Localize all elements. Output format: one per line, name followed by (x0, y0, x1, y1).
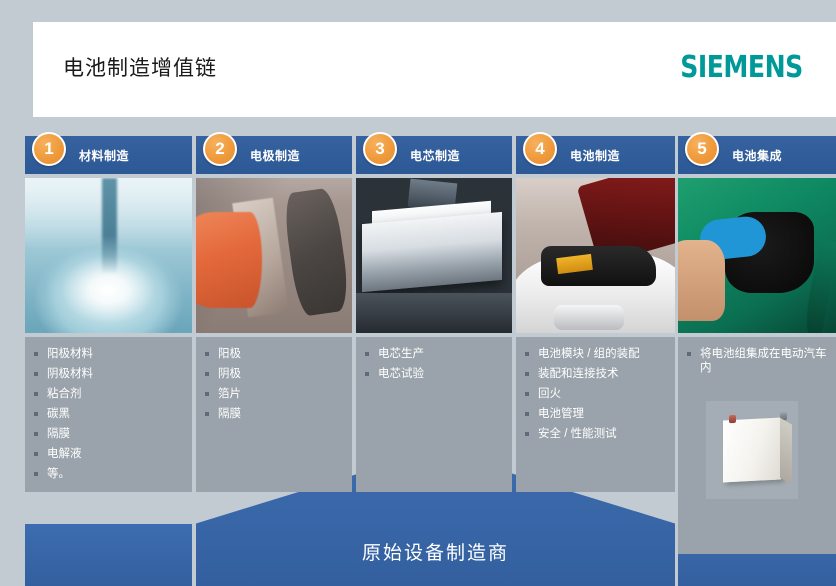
stage-bullets-5: 将电池组集成在电动汽车内 (686, 347, 828, 375)
stage-header-5: 5 电池集成 (678, 136, 836, 174)
siemens-logo: SIEMENS (680, 50, 803, 85)
list-item: 阴极材料 (33, 367, 184, 381)
list-item: 隔膜 (204, 407, 344, 421)
stage-number-badge-5: 5 (685, 132, 719, 166)
list-item: 将电池组集成在电动汽车内 (686, 347, 828, 375)
stage-number-badge-1: 1 (32, 132, 66, 166)
stage-column-1[interactable]: 1 材料制造 阳极材料 阴极材料 粘合剂 碳黑 隔膜 电解液 等。 (25, 136, 192, 586)
stage-body-4: 电池模块 / 组的装配 装配和连接技术 回火 电池管理 安全 / 性能测试 (516, 337, 675, 492)
stage-column-2[interactable]: 2 电极制造 阳极 阴极 箔片 隔膜 (196, 136, 352, 586)
list-item: 回火 (524, 387, 667, 401)
page-title: 电池制造增值链 (63, 52, 217, 82)
list-item: 电芯生产 (364, 347, 504, 361)
stage-header-4: 4 电池制造 (516, 136, 675, 174)
hand (678, 240, 725, 321)
stage-body-1: 阳极材料 阴极材料 粘合剂 碳黑 隔膜 电解液 等。 (25, 337, 192, 492)
list-item: 阳极 (204, 347, 344, 361)
battery-terminal-negative (780, 412, 787, 420)
stage-label-2: 电极制造 (250, 147, 300, 164)
stage-body-3: 电芯生产 电芯试验 (356, 337, 512, 492)
list-item: 阳极材料 (33, 347, 184, 361)
machine-block (362, 212, 502, 292)
stage-number-badge-4: 4 (523, 132, 557, 166)
list-item: 电解液 (33, 447, 184, 461)
copper-roll (196, 212, 262, 308)
copper-foil-roll-photo (196, 178, 352, 333)
battery-terminal-positive (729, 415, 736, 423)
stage-label-5: 电池集成 (732, 147, 782, 164)
stage-column-3[interactable]: 3 电芯制造 电芯生产 电芯试验 (356, 136, 512, 586)
stage-photo-3 (356, 178, 512, 333)
list-item: 电池管理 (524, 407, 667, 421)
dark-coating-roll (281, 187, 351, 317)
stage-number-badge-3: 3 (363, 132, 397, 166)
stage-number-badge-2: 2 (203, 132, 237, 166)
stage-header-2: 2 电极制造 (196, 136, 352, 174)
cell-assembly-machine-photo (356, 178, 512, 333)
headlamp (554, 305, 624, 330)
prismatic-battery-cell-image (706, 401, 798, 499)
stage-label-3: 电芯制造 (410, 147, 460, 164)
stage-header-3: 3 电芯制造 (356, 136, 512, 174)
stage-bullets-1: 阳极材料 阴极材料 粘合剂 碳黑 隔膜 电解液 等。 (33, 347, 184, 481)
stage-label-1: 材料制造 (79, 147, 129, 164)
header-band: 电池制造增值链 SIEMENS (33, 22, 836, 117)
stage-body-5: 将电池组集成在电动汽车内 (678, 337, 836, 554)
stage-column-4[interactable]: 4 电池制造 电池模块 / 组的装配 装配和连接技术 回火 电池管理 安全 / … (516, 136, 675, 586)
machine-base (356, 293, 512, 333)
stage-bullets-4: 电池模块 / 组的装配 装配和连接技术 回火 电池管理 安全 / 性能测试 (524, 347, 667, 441)
stage-photo-5 (678, 178, 836, 333)
value-chain-stages: 1 材料制造 阳极材料 阴极材料 粘合剂 碳黑 隔膜 电解液 等。 2 电极制造 (25, 136, 836, 586)
liquid-mixing-photo (25, 178, 192, 333)
list-item: 电池模块 / 组的装配 (524, 347, 667, 361)
list-item: 隔膜 (33, 427, 184, 441)
list-item: 电芯试验 (364, 367, 504, 381)
list-item: 碳黑 (33, 407, 184, 421)
list-item: 阴极 (204, 367, 344, 381)
stage-bullets-3: 电芯生产 电芯试验 (364, 347, 504, 381)
stage-column-5[interactable]: 5 电池集成 将电池组集成在电动汽车内 (678, 136, 836, 586)
list-item: 粘合剂 (33, 387, 184, 401)
list-item: 等。 (33, 467, 184, 481)
stage-bullets-2: 阳极 阴极 箔片 隔膜 (204, 347, 344, 421)
stage-photo-1 (25, 178, 192, 333)
battery-cell-body (723, 417, 781, 482)
stage-label-4: 电池制造 (570, 147, 620, 164)
list-item: 安全 / 性能测试 (524, 427, 667, 441)
list-item: 箔片 (204, 387, 344, 401)
list-item: 装配和连接技术 (524, 367, 667, 381)
stage-body-2: 阳极 阴极 箔片 隔膜 (196, 337, 352, 492)
stage-header-1: 1 材料制造 (25, 136, 192, 174)
stage-photo-4 (516, 178, 675, 333)
stage-photo-2 (196, 178, 352, 333)
car-engine-bay-photo (516, 178, 675, 333)
ev-charging-photo (678, 178, 836, 333)
